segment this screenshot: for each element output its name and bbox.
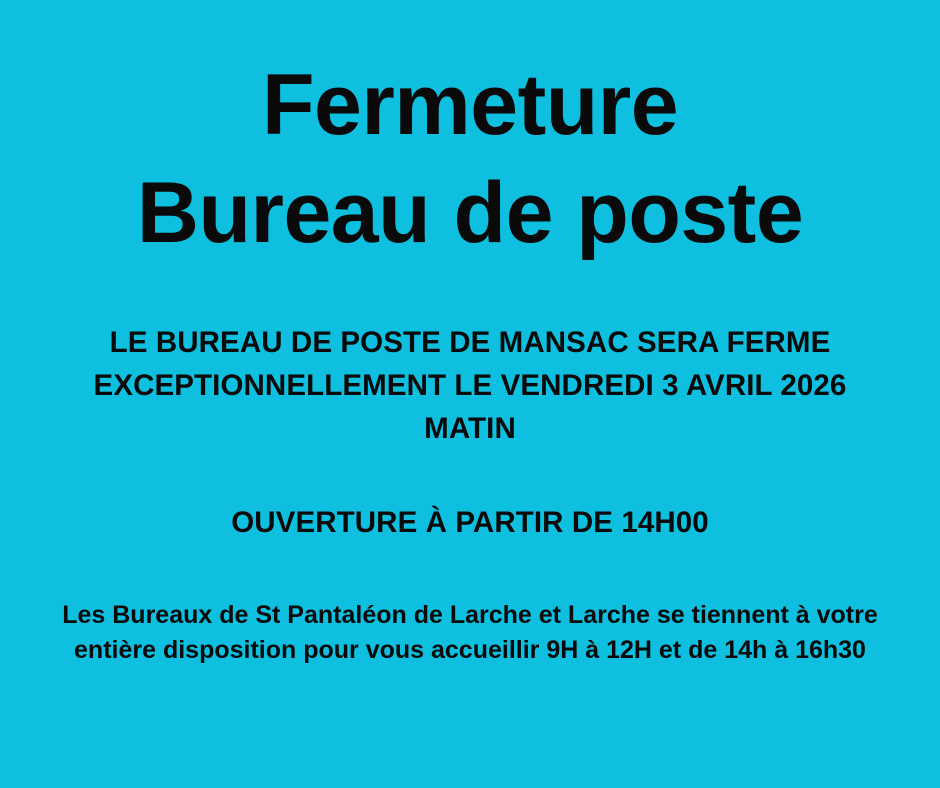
closure-notice-line-2: EXCEPTIONNELLEMENT LE VENDREDI 3 AVRIL 2…	[46, 365, 894, 408]
closure-notice-poster: Fermeture Bureau de poste LE BUREAU DE P…	[0, 0, 940, 788]
opening-time-paragraph: OUVERTURE À PARTIR DE 14H00	[0, 502, 940, 543]
poster-headline-line-1: Fermeture	[0, 62, 940, 148]
closure-notice-line-1: LE BUREAU DE POSTE DE MANSAC SERA FERME	[46, 322, 894, 365]
closure-notice-paragraph: LE BUREAU DE POSTE DE MANSAC SERA FERME …	[0, 322, 940, 450]
opening-time-line-1: OUVERTURE À PARTIR DE 14H00	[0, 502, 940, 543]
poster-headline-line-2: Bureau de poste	[0, 170, 940, 256]
alternative-offices-line-1: Les Bureaux de St Pantaléon de Larche et…	[14, 598, 926, 634]
closure-notice-line-3: MATIN	[46, 408, 894, 451]
alternative-offices-line-2: entière disposition pour vous accueillir…	[14, 633, 926, 669]
alternative-offices-paragraph: Les Bureaux de St Pantaléon de Larche et…	[0, 598, 940, 669]
